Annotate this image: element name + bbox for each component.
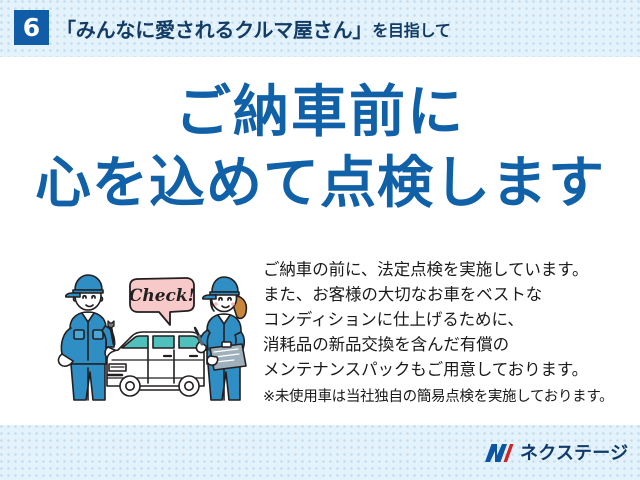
mechanics-illustration: Check! bbox=[52, 268, 260, 408]
header-title-main: 「みんなに愛されるクルマ屋さん」 bbox=[56, 14, 372, 43]
body-line-5: メンテナンスパックもご用意しております。 bbox=[263, 358, 635, 383]
headline: ご納車前に 心を込めて点検します bbox=[0, 84, 640, 211]
section-number-badge: 6 bbox=[14, 10, 49, 45]
brand-name: ネクステージ bbox=[520, 444, 628, 462]
body-line-2: また、お客様の大切なお車をベストな bbox=[263, 283, 635, 308]
headline-line-2: 心を込めて点検します bbox=[0, 155, 640, 211]
brand-logo: ネクステージ bbox=[484, 440, 628, 466]
header-title: 「みんなに愛されるクルマ屋さん」 を目指して bbox=[56, 11, 451, 46]
header-title-sub: を目指して bbox=[372, 17, 451, 41]
check-speech-bubble: Check! bbox=[129, 278, 195, 325]
body-copy: ご納車の前に、法定点検を実施しています。 また、お客様の大切なお車をベストな コ… bbox=[263, 258, 635, 410]
body-line-3: コンディションに仕上げるために、 bbox=[263, 308, 635, 333]
check-bubble-text: Check! bbox=[129, 286, 195, 306]
body-line-1: ご納車の前に、法定点検を実施しています。 bbox=[263, 258, 635, 283]
headline-line-1: ご納車前に bbox=[0, 84, 640, 140]
body-line-4: 消耗品の新品交換を含んだ有償の bbox=[263, 333, 635, 358]
body-note: ※未使用車は当社独自の簡易点検を実施しております。 bbox=[263, 385, 635, 410]
nextage-n-logo-icon bbox=[484, 442, 514, 464]
advertisement-page: 6 「みんなに愛されるクルマ屋さん」 を目指して ご納車前に 心を込めて点検しま… bbox=[0, 0, 640, 480]
